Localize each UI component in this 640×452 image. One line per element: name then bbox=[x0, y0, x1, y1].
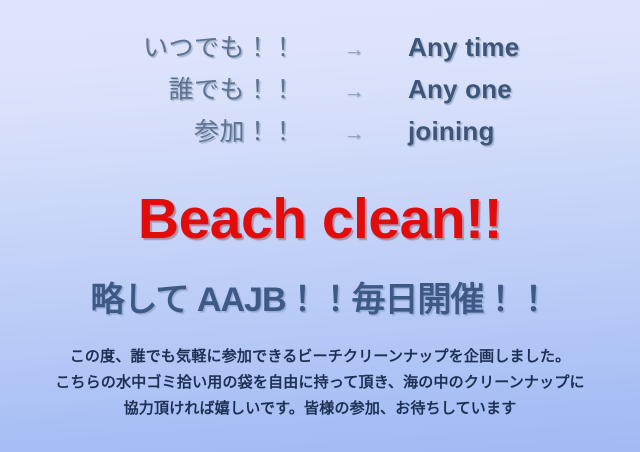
tagline-block: いつでも！！ → Any time 誰でも！！ → Any one 参加！！ →… bbox=[0, 28, 640, 154]
page-title: Beach clean!! bbox=[0, 186, 640, 252]
tagline-japanese: 参加！！ bbox=[0, 112, 300, 148]
body-copy: この度、誰でも気軽に参加できるビーチクリーンナップを企画しました。 こちらの水中… bbox=[0, 344, 640, 422]
tagline-japanese: 誰でも！！ bbox=[0, 70, 300, 106]
tagline-english: joining bbox=[408, 116, 640, 147]
tagline-english: Any time bbox=[408, 32, 640, 63]
tagline-english: Any one bbox=[408, 74, 640, 105]
arrow-right-icon: → bbox=[300, 80, 408, 104]
body-copy-line: こちらの水中ゴミ拾い用の袋を自由に持って頂き、海の中のクリーンナップに bbox=[0, 370, 640, 396]
page-subtitle: 略して AAJB！！毎日開催！！ bbox=[0, 272, 640, 321]
tagline-row: 参加！！ → joining bbox=[0, 112, 640, 154]
arrow-right-icon: → bbox=[300, 38, 408, 62]
arrow-right-icon: → bbox=[300, 122, 408, 146]
body-copy-line: 協力頂ければ嬉しいです。皆様の参加、お待ちしています bbox=[0, 396, 640, 422]
body-copy-line: この度、誰でも気軽に参加できるビーチクリーンナップを企画しました。 bbox=[0, 344, 640, 370]
tagline-row: 誰でも！！ → Any one bbox=[0, 70, 640, 112]
tagline-japanese: いつでも！！ bbox=[0, 28, 300, 64]
poster-canvas: いつでも！！ → Any time 誰でも！！ → Any one 参加！！ →… bbox=[0, 0, 640, 452]
tagline-row: いつでも！！ → Any time bbox=[0, 28, 640, 70]
